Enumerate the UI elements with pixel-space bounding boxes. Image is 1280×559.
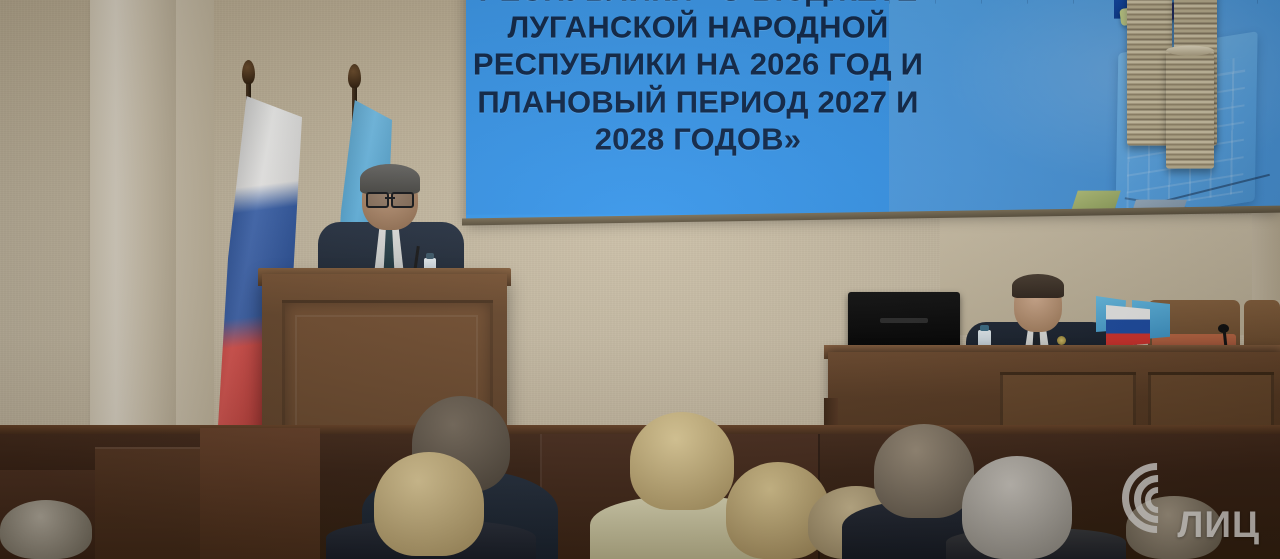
projection-screen-content: РЕСПУБЛИКИ «О БЮДЖЕТЕ ЛУГАНСКОЙ НАРОДНОЙ… xyxy=(466,0,1280,215)
slide-line-1: РЕСПУБЛИКИ «О БЮДЖЕТЕ xyxy=(466,0,930,9)
slide-line-5: 2028 ГОДОВ» xyxy=(466,120,930,157)
coin-stack-3 xyxy=(1166,50,1214,168)
monitor-vent xyxy=(880,318,928,323)
coin-stack-1 xyxy=(1127,0,1172,146)
official-hair xyxy=(1012,274,1064,298)
flag-finial-russia xyxy=(242,60,255,84)
speaker-glasses-bridge xyxy=(385,197,395,199)
podium-bottle-cap xyxy=(426,253,434,259)
audience-head-2 xyxy=(374,452,484,556)
slide-line-2: ЛУГАНСКОЙ НАРОДНОЙ xyxy=(466,9,930,46)
speaker-hair xyxy=(360,164,420,194)
flag-finial-lnr xyxy=(348,64,361,88)
presidium-bottle-cap xyxy=(980,325,989,331)
slide-line-3: РЕСПУБЛИКИ НА 2026 ГОД И xyxy=(466,46,930,83)
desk-flag-russia xyxy=(1106,305,1150,347)
slide-text-block: РЕСПУБЛИКИ «О БЮДЖЕТЕ ЛУГАНСКОЙ НАРОДНОЙ… xyxy=(466,0,930,158)
stair-wall-upper xyxy=(200,428,320,559)
slide-coin-stacks xyxy=(1124,0,1265,146)
slide-line-4: ПЛАНОВЫЙ ПЕРИОД 2027 И xyxy=(466,83,930,120)
audience-head-3 xyxy=(630,412,734,510)
audience-head-6 xyxy=(874,424,974,518)
wall-pilaster-left-2 xyxy=(176,0,214,455)
screenshot-root: РЕСПУБЛИКИ «О БЮДЖЕТЕ ЛУГАНСКОЙ НАРОДНОЙ… xyxy=(0,0,1280,559)
official-lapel-pin-icon xyxy=(1057,336,1066,345)
coin-top-3 xyxy=(1166,45,1214,55)
audience-head-8 xyxy=(1126,496,1222,559)
audience-head-7 xyxy=(962,456,1072,559)
projection-screen: РЕСПУБЛИКИ «О БЮДЖЕТЕ ЛУГАНСКОЙ НАРОДНОЙ… xyxy=(466,0,1280,221)
wall-pilaster-left xyxy=(90,0,176,470)
slide-photo-panel xyxy=(889,0,1280,215)
audience-head-9 xyxy=(0,500,92,559)
